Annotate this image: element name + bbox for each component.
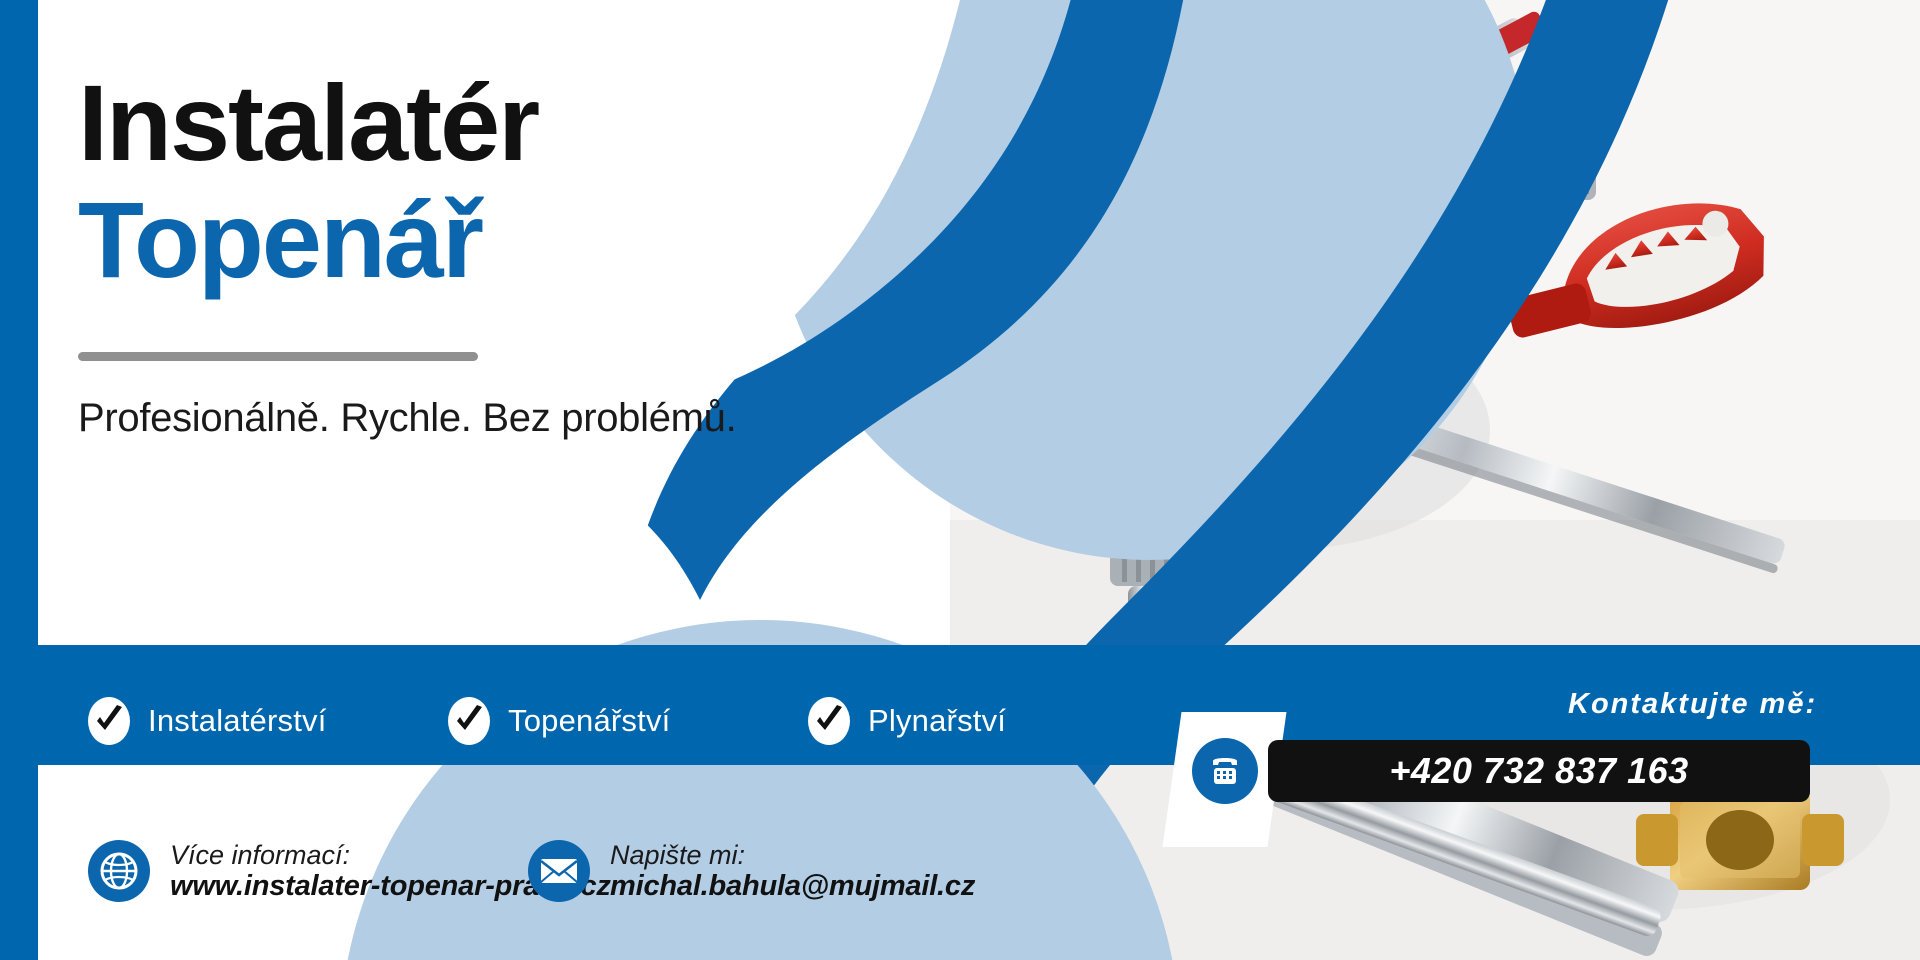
contact-call-label: Kontaktujte mě: (1568, 688, 1817, 721)
headline-line-2: Topenář (78, 175, 938, 292)
check-icon (808, 697, 850, 745)
check-icon (88, 697, 130, 745)
service-label: Instalatérství (148, 703, 327, 739)
globe-icon (88, 840, 150, 902)
service-label: Plynařství (868, 703, 1006, 739)
tagline: Profesionálně. Rychle. Bez problémů. (78, 396, 898, 441)
headline-divider (78, 352, 478, 361)
headline-line-1: Instalatér (78, 72, 938, 175)
plumber-banner: Instalatér Topenář Profesionálně. Rychle… (0, 0, 1920, 960)
service-item[interactable]: Topenářství (448, 697, 670, 745)
service-label: Topenářství (508, 703, 670, 739)
email-value: michal.bahula@mujmail.cz (610, 870, 975, 902)
check-icon (448, 697, 490, 745)
service-item[interactable]: Instalatérství (88, 697, 327, 745)
service-item[interactable]: Plynařství (808, 697, 1006, 745)
bottom-contact-row: Více informací: www.instalater-topenar-p… (0, 765, 1920, 960)
email-label: Napište mi: (610, 840, 975, 870)
envelope-icon (528, 840, 590, 902)
contact-email[interactable]: Napište mi: michal.bahula@mujmail.cz (528, 840, 975, 903)
headline-block: Instalatér Topenář (78, 72, 938, 291)
